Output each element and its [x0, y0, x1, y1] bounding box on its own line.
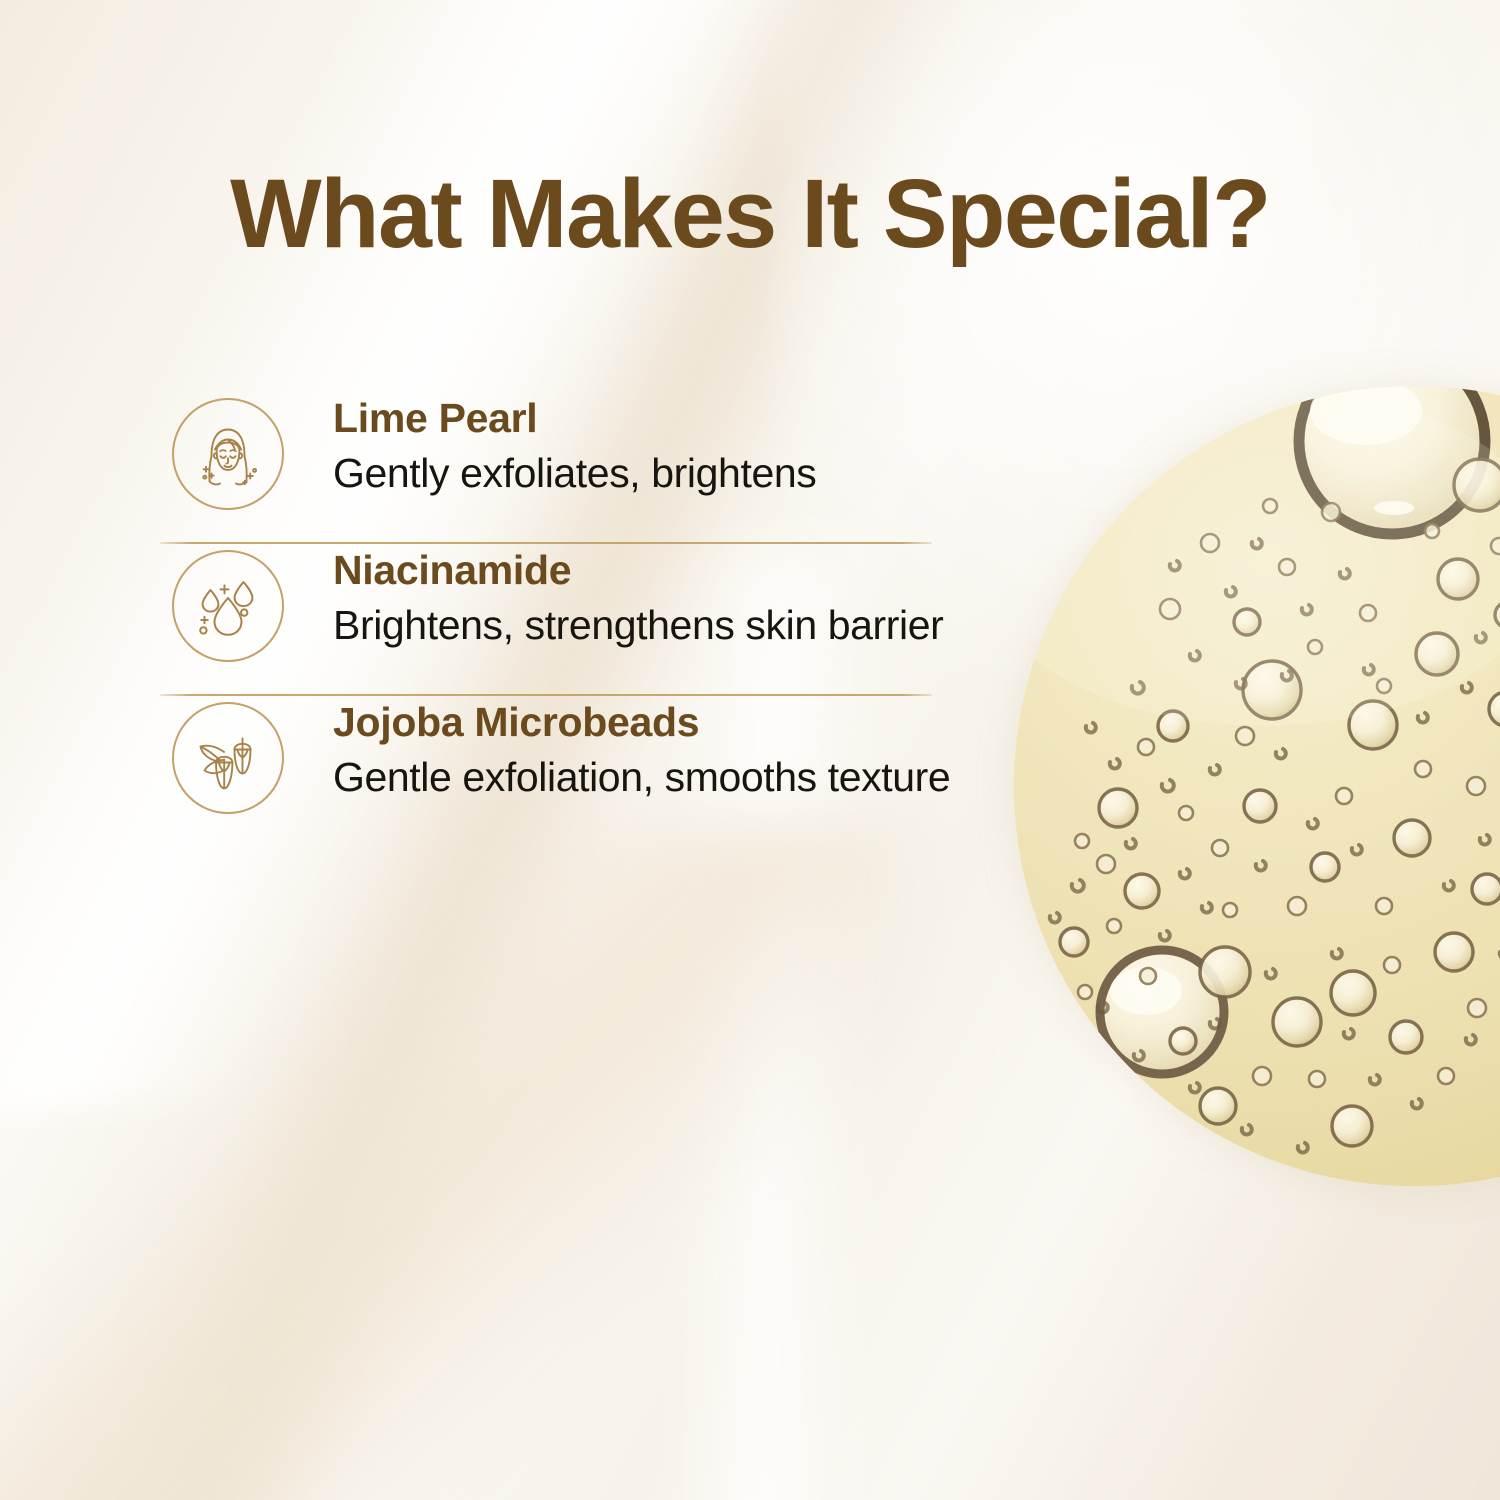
gel-serum-texture-swatch: [1014, 386, 1500, 1186]
feature-row-niacinamide: Niacinamide Brightens, strengthens skin …: [158, 544, 948, 694]
feature-title: Jojoba Microbeads: [333, 700, 950, 746]
feature-text-block: Jojoba Microbeads Gentle exfoliation, sm…: [333, 696, 950, 801]
feature-title: Niacinamide: [333, 548, 943, 594]
jojoba-seeds-icon: [172, 702, 284, 814]
background-brushstroke-4: [0, 820, 900, 1500]
gel-bubbles-graphic: [1014, 386, 1500, 1186]
feature-description: Gentle exfoliation, smooths texture: [333, 753, 950, 801]
feature-description: Brightens, strengthens skin barrier: [333, 601, 943, 649]
feature-list: Lime Pearl Gently exfoliates, brightens: [158, 392, 948, 846]
feature-text-block: Lime Pearl Gently exfoliates, brightens: [333, 392, 816, 497]
water-droplets-icon: [172, 550, 284, 662]
page-title: What Makes It Special?: [0, 158, 1500, 270]
feature-text-block: Niacinamide Brightens, strengthens skin …: [333, 544, 943, 649]
feature-row-lime-pearl: Lime Pearl Gently exfoliates, brightens: [158, 392, 948, 542]
feature-description: Gently exfoliates, brightens: [333, 449, 816, 497]
poster-canvas: What Makes It Special?: [0, 0, 1500, 1500]
feature-row-jojoba-microbeads: Jojoba Microbeads Gentle exfoliation, sm…: [158, 696, 948, 846]
woman-face-glow-icon: [172, 398, 284, 510]
feature-title: Lime Pearl: [333, 396, 816, 442]
